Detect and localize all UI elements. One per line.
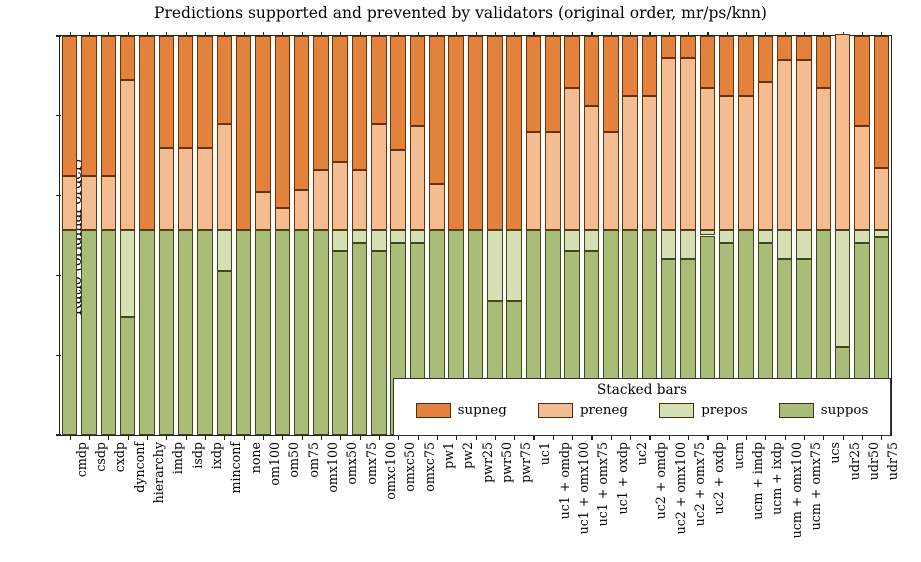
- x-tick-mark: [340, 435, 341, 440]
- stacked-bar[interactable]: [545, 36, 560, 435]
- stacked-bar[interactable]: [835, 36, 850, 435]
- stacked-bar[interactable]: [294, 36, 309, 435]
- bar-segment-supneg: [275, 36, 290, 208]
- x-tick-label: om100: [267, 442, 282, 486]
- bar-segment-supneg: [159, 36, 174, 148]
- stacked-bar[interactable]: [255, 36, 270, 435]
- bar-segment-preneg: [854, 126, 869, 230]
- x-tick-mark: [321, 435, 322, 440]
- x-tick-label: omx50: [344, 442, 359, 485]
- bar-segment-supneg: [603, 36, 618, 132]
- bar-segment-preneg: [564, 88, 579, 230]
- stacked-bar[interactable]: [506, 36, 521, 435]
- x-tick-label: om75: [306, 442, 321, 478]
- bar-segment-suppos: [217, 271, 232, 435]
- stacked-bar[interactable]: [371, 36, 386, 435]
- bar-segment-supneg: [564, 36, 579, 88]
- bar-segment-preneg: [584, 106, 599, 230]
- stacked-bar[interactable]: [758, 36, 773, 435]
- bar-segment-prepos: [700, 230, 715, 236]
- bar-segment-supneg: [506, 36, 521, 230]
- legend-item[interactable]: prepos: [659, 403, 747, 418]
- x-tick-label: udr50: [866, 442, 881, 480]
- bar-segment-preneg: [120, 80, 135, 230]
- stacked-bar[interactable]: [429, 36, 444, 435]
- bar-segment-prepos: [680, 230, 695, 260]
- stacked-bar[interactable]: [854, 36, 869, 435]
- bar-segment-supneg: [642, 36, 657, 96]
- x-tick-label: uc1 + omdp: [557, 442, 572, 519]
- bar-segment-supneg: [854, 36, 869, 126]
- bar-segment-suppos: [332, 251, 347, 435]
- bar-segment-prepos: [584, 230, 599, 252]
- x-tick-mark: [147, 435, 148, 440]
- plot-area: Ratio (original order) 0.00.20.40.60.81.…: [59, 35, 892, 436]
- bars-container: [60, 36, 891, 435]
- x-tick-label: ucm: [731, 442, 746, 469]
- legend-swatch-prepos: [659, 403, 694, 418]
- x-tick-label: none: [248, 442, 263, 473]
- bar-segment-supneg: [313, 36, 328, 170]
- x-tick-label: uc2 + oxdp: [711, 442, 726, 515]
- bar-segment-preneg: [526, 132, 541, 230]
- x-tick-label: pw2: [460, 442, 475, 469]
- bar-segment-preneg: [661, 58, 676, 230]
- x-tick-mark: [128, 435, 129, 440]
- chart-title: Predictions supported and prevented by v…: [0, 4, 921, 22]
- x-tick-label: hierarchy: [151, 442, 166, 503]
- stacked-bar[interactable]: [777, 36, 792, 435]
- stacked-bar[interactable]: [584, 36, 599, 435]
- stacked-bar[interactable]: [120, 36, 135, 435]
- stacked-bar[interactable]: [448, 36, 463, 435]
- bar-segment-preneg: [429, 184, 444, 230]
- bar-segment-preneg: [874, 168, 889, 230]
- bar-segment-prepos: [758, 230, 773, 244]
- bar-segment-preneg: [622, 96, 637, 230]
- bar-segment-supneg: [255, 36, 270, 192]
- bar-segment-preneg: [294, 190, 309, 230]
- bar-segment-preneg: [835, 34, 850, 230]
- x-tick-label: omx100: [325, 442, 340, 493]
- bar-segment-preneg: [719, 96, 734, 230]
- bar-segment-preneg: [159, 148, 174, 230]
- x-tick-mark: [205, 435, 206, 440]
- x-tick-mark: [244, 435, 245, 440]
- bar-segment-supneg: [217, 36, 232, 124]
- x-tick-mark: [166, 435, 167, 440]
- bar-segment-preneg: [796, 60, 811, 230]
- bar-segment-preneg: [642, 96, 657, 230]
- bar-segment-preneg: [738, 96, 753, 230]
- x-tick-label: pw1: [441, 442, 456, 469]
- bar-segment-preneg: [101, 176, 116, 230]
- bar-segment-supneg: [371, 36, 386, 124]
- stacked-bar[interactable]: [178, 36, 193, 435]
- bar-segment-supneg: [120, 36, 135, 80]
- x-tick-label: uc1: [537, 442, 552, 465]
- bar-segment-preneg: [700, 88, 715, 230]
- x-tick-label: ixdp: [209, 442, 224, 469]
- stacked-bar[interactable]: [352, 36, 367, 435]
- legend-items: supnegprenegprepossuppos: [394, 403, 890, 418]
- stacked-bar[interactable]: [874, 36, 889, 435]
- bar-segment-prepos: [506, 230, 521, 302]
- bar-segment-supneg: [468, 36, 483, 230]
- bar-segment-supneg: [700, 36, 715, 88]
- bar-segment-prepos: [332, 230, 347, 252]
- bar-segment-suppos: [101, 230, 116, 435]
- x-tick-mark: [302, 435, 303, 440]
- bar-segment-preneg: [410, 126, 425, 230]
- stacked-bar[interactable]: [332, 36, 347, 435]
- x-tick-mark: [360, 435, 361, 440]
- x-tick-label: om50: [286, 442, 301, 478]
- bar-segment-supneg: [816, 36, 831, 88]
- bar-segment-prepos: [719, 230, 734, 244]
- legend-label: preneg: [580, 403, 628, 418]
- x-tick-mark: [108, 435, 109, 440]
- stacked-bar[interactable]: [661, 36, 676, 435]
- bar-segment-supneg: [719, 36, 734, 96]
- x-tick-label: uc1 + omx75: [595, 442, 610, 526]
- stacked-bar[interactable]: [603, 36, 618, 435]
- bar-segment-suppos: [178, 230, 193, 435]
- bar-segment-preneg: [81, 176, 96, 230]
- x-tick-label: omx75: [364, 442, 379, 485]
- stacked-bar[interactable]: [410, 36, 425, 435]
- stacked-bar[interactable]: [622, 36, 637, 435]
- bar-segment-supneg: [236, 36, 251, 230]
- bar-segment-supneg: [197, 36, 212, 148]
- stacked-bar[interactable]: [81, 36, 96, 435]
- bar-segment-prepos: [410, 230, 425, 244]
- stacked-bar[interactable]: [390, 36, 405, 435]
- x-tick-label: uc1 + omx100: [576, 442, 591, 534]
- bar-segment-supneg: [429, 36, 444, 184]
- bar-segment-prepos: [390, 230, 405, 244]
- bar-segment-supneg: [526, 36, 541, 132]
- legend-swatch-preneg: [538, 403, 573, 418]
- x-tick-label: isdp: [190, 442, 205, 469]
- bar-segment-suppos: [139, 230, 154, 435]
- x-tick-label: cmdp: [74, 442, 89, 477]
- x-tick-label: ucs: [827, 442, 842, 464]
- stacked-bar[interactable]: [313, 36, 328, 435]
- x-tick-label: ucm + omx100: [789, 442, 804, 538]
- x-tick-mark: [70, 435, 71, 440]
- x-tick-label: minconf: [228, 442, 243, 494]
- bar-segment-prepos: [217, 230, 232, 272]
- x-tick-label: udr75: [885, 442, 900, 480]
- legend-item[interactable]: suppos: [779, 403, 869, 418]
- bar-segment-preneg: [758, 82, 773, 230]
- x-tick-label: uc2: [634, 442, 649, 465]
- bar-segment-prepos: [854, 230, 869, 244]
- bar-segment-prepos: [661, 230, 676, 260]
- bar-segment-supneg: [758, 36, 773, 82]
- bar-segment-supneg: [294, 36, 309, 190]
- bar-segment-supneg: [410, 36, 425, 126]
- bar-segment-supneg: [352, 36, 367, 170]
- x-tick-label: ucm + ixdp: [769, 442, 784, 515]
- bar-segment-preneg: [332, 162, 347, 230]
- stacked-bar[interactable]: [642, 36, 657, 435]
- stacked-bar[interactable]: [236, 36, 251, 435]
- bar-segment-supneg: [545, 36, 560, 132]
- bar-segment-supneg: [777, 36, 792, 60]
- x-tick-label: pwr25: [480, 442, 495, 483]
- stacked-bar[interactable]: [700, 36, 715, 435]
- stacked-bar[interactable]: [139, 36, 154, 435]
- x-tick-mark: [186, 435, 187, 440]
- x-tick-label: pwr50: [499, 442, 514, 483]
- x-tick-label: ucm + omx75: [808, 442, 823, 530]
- bar-segment-supneg: [487, 36, 502, 230]
- bar-segment-suppos: [352, 243, 367, 435]
- bar-segment-supneg: [796, 36, 811, 60]
- bar-segment-supneg: [139, 36, 154, 230]
- bar-segment-supneg: [680, 36, 695, 58]
- bar-segment-suppos: [197, 230, 212, 435]
- stacked-bar[interactable]: [796, 36, 811, 435]
- bar-segment-preneg: [217, 124, 232, 230]
- x-tick-label: csdp: [93, 442, 108, 472]
- bar-segment-supneg: [332, 36, 347, 162]
- bar-segment-supneg: [622, 36, 637, 96]
- stacked-bar[interactable]: [526, 36, 541, 435]
- bar-segment-prepos: [487, 230, 502, 302]
- x-tick-label: uc2 + omx100: [673, 442, 688, 534]
- bar-segment-prepos: [371, 230, 386, 252]
- stacked-bar[interactable]: [159, 36, 174, 435]
- bar-segment-prepos: [120, 230, 135, 318]
- bar-segment-suppos: [120, 317, 135, 435]
- bar-segment-preneg: [62, 176, 77, 230]
- bar-segment-supneg: [178, 36, 193, 148]
- stacked-bar[interactable]: [197, 36, 212, 435]
- bar-segment-preneg: [603, 132, 618, 230]
- bar-segment-prepos: [352, 230, 367, 244]
- bar-segment-preneg: [777, 60, 792, 230]
- bar-segment-preneg: [816, 88, 831, 230]
- bar-segment-preneg: [255, 192, 270, 230]
- bar-segment-prepos: [874, 230, 889, 238]
- bar-segment-prepos: [835, 230, 850, 348]
- x-tick-label: uc2 + omdp: [653, 442, 668, 519]
- legend-swatch-supneg: [416, 403, 451, 418]
- bar-segment-suppos: [371, 251, 386, 435]
- bar-segment-suppos: [313, 230, 328, 435]
- stacked-bar[interactable]: [487, 36, 502, 435]
- bar-segment-suppos: [236, 230, 251, 435]
- x-tick-label: ucm + imdp: [750, 442, 765, 520]
- bar-segment-suppos: [255, 230, 270, 435]
- stacked-bar[interactable]: [217, 36, 232, 435]
- legend-item[interactable]: preneg: [538, 403, 628, 418]
- bar-segment-preneg: [352, 170, 367, 230]
- legend-label: suppos: [821, 403, 869, 418]
- bar-segment-prepos: [564, 230, 579, 252]
- bar-segment-supneg: [738, 36, 753, 96]
- bar-segment-preneg: [545, 132, 560, 230]
- x-tick-label: omxc100: [383, 442, 398, 500]
- bar-segment-supneg: [390, 36, 405, 150]
- bar-segment-supneg: [661, 36, 676, 58]
- legend-swatch-suppos: [779, 403, 814, 418]
- bar-segment-preneg: [197, 148, 212, 230]
- bar-segment-preneg: [680, 58, 695, 230]
- bar-segment-prepos: [796, 230, 811, 260]
- x-tick-mark: [379, 435, 380, 440]
- bar-segment-preneg: [371, 124, 386, 230]
- x-tick-mark: [263, 435, 264, 440]
- stacked-bar[interactable]: [719, 36, 734, 435]
- legend-label: supneg: [458, 403, 507, 418]
- bar-segment-supneg: [448, 36, 463, 230]
- bar-segment-supneg: [81, 36, 96, 176]
- stacked-bar[interactable]: [468, 36, 483, 435]
- legend-item[interactable]: supneg: [416, 403, 507, 418]
- x-tick-mark: [89, 435, 90, 440]
- bar-segment-preneg: [178, 148, 193, 230]
- x-tick-label: udr25: [847, 442, 862, 480]
- x-tick-label: omxc75: [422, 442, 437, 492]
- x-tick-label: uc1 + oxdp: [615, 442, 630, 515]
- chart-root: Predictions supported and prevented by v…: [0, 0, 921, 562]
- x-tick-label: pwr75: [518, 442, 533, 483]
- bar-segment-suppos: [81, 230, 96, 435]
- stacked-bar[interactable]: [680, 36, 695, 435]
- legend-title: Stacked bars: [394, 382, 890, 398]
- x-tick-label: uc2 + omx75: [692, 442, 707, 526]
- x-tick-label: cxdp: [112, 442, 127, 472]
- x-tick-label: dynconf: [132, 442, 147, 493]
- bar-segment-suppos: [159, 230, 174, 435]
- bar-segment-preneg: [390, 150, 405, 230]
- legend-label: prepos: [701, 403, 747, 418]
- bar-segment-suppos: [62, 230, 77, 435]
- stacked-bar[interactable]: [738, 36, 753, 435]
- bar-segment-preneg: [275, 208, 290, 230]
- bar-segment-supneg: [62, 36, 77, 176]
- x-tick-mark: [224, 435, 225, 440]
- bar-segment-supneg: [874, 36, 889, 168]
- bar-segment-suppos: [294, 230, 309, 435]
- stacked-bar[interactable]: [62, 36, 77, 435]
- x-tick-mark: [282, 435, 283, 440]
- bar-segment-suppos: [275, 230, 290, 435]
- legend: Stacked bars supnegprenegprepossuppos: [393, 378, 891, 436]
- bar-segment-prepos: [777, 230, 792, 260]
- bar-segment-supneg: [101, 36, 116, 176]
- bar-segment-supneg: [584, 36, 599, 106]
- stacked-bar[interactable]: [275, 36, 290, 435]
- stacked-bar[interactable]: [816, 36, 831, 435]
- x-tick-label: imdp: [170, 442, 185, 474]
- stacked-bar[interactable]: [564, 36, 579, 435]
- stacked-bar[interactable]: [101, 36, 116, 435]
- bar-segment-preneg: [313, 170, 328, 230]
- x-tick-label: omxc50: [402, 442, 417, 492]
